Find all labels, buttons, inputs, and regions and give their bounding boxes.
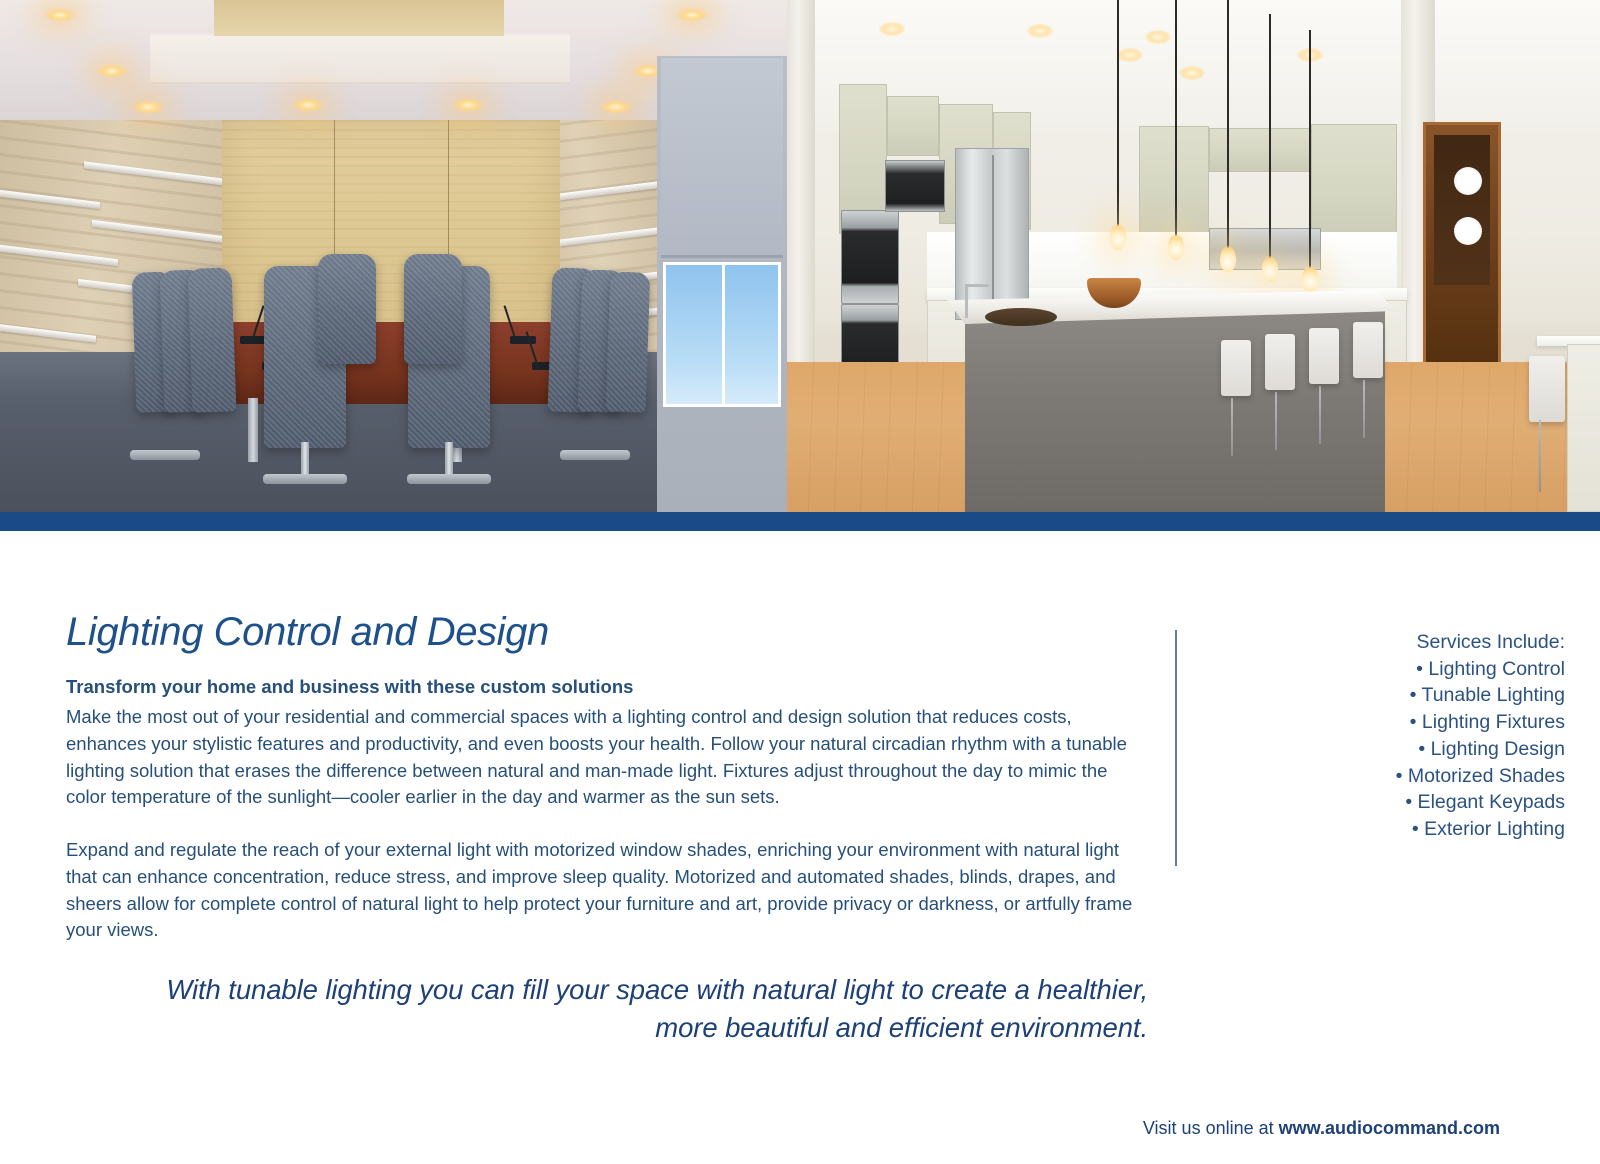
accent-band [0, 512, 1600, 531]
chair-base [130, 450, 200, 460]
hero-image-kitchen [787, 0, 1600, 512]
recessed-downlight [44, 8, 76, 22]
wall-oven [841, 210, 899, 304]
conference-chair [606, 271, 651, 412]
footer-prefix: Visit us online at [1143, 1118, 1279, 1138]
pendant-bulb [1110, 224, 1126, 250]
recessed-downlight [879, 22, 905, 36]
chair-base [407, 474, 491, 484]
kitchen-faucet [965, 284, 968, 318]
services-divider [1175, 630, 1177, 866]
pendant-bulb [1220, 246, 1236, 272]
pendant-cord [1175, 0, 1177, 236]
services-item-lighting-control: • Lighting Control [1190, 656, 1565, 683]
hero-image-strip [0, 0, 1600, 512]
page-title: Lighting Control and Design [66, 610, 549, 655]
services-item-lighting-design: • Lighting Design [1190, 736, 1565, 763]
conference-chair [318, 254, 376, 364]
kitchen-upper-cabinet [1139, 126, 1209, 238]
services-heading: Services Include: [1190, 629, 1565, 656]
pendant-bulb [1302, 266, 1318, 292]
chair-post [301, 442, 309, 478]
serving-tray [985, 308, 1057, 326]
services-item-elegant-keypads: • Elegant Keypads [1190, 789, 1565, 816]
recessed-downlight [1145, 30, 1171, 44]
office-ceiling-wood-inset [214, 0, 504, 36]
services-item-tunable-lighting: • Tunable Lighting [1190, 682, 1565, 709]
chair-post [445, 442, 453, 478]
brochure-page: Lighting Control and Design Transform yo… [0, 0, 1600, 1164]
conference-chair [404, 254, 462, 364]
pendant-cord [1117, 0, 1119, 226]
office-window-glass [663, 262, 781, 407]
services-item-exterior-lighting: • Exterior Lighting [1190, 816, 1565, 843]
conference-chair [188, 267, 237, 412]
hero-image-conference-room [0, 0, 787, 512]
bar-stool-leg [1319, 386, 1321, 444]
conference-table-leg [248, 398, 258, 462]
dining-chair [1529, 356, 1565, 422]
recessed-downlight [1027, 24, 1053, 38]
recessed-downlight [292, 98, 324, 112]
motorized-window-shade [661, 58, 783, 258]
services-item-motorized-shades: • Motorized Shades [1190, 763, 1565, 790]
display-plate [1454, 217, 1482, 245]
recessed-downlight [132, 100, 164, 114]
microwave [885, 160, 945, 212]
display-plate [1454, 167, 1482, 195]
dining-chair-leg [1539, 420, 1541, 492]
services-item-lighting-fixtures: • Lighting Fixtures [1190, 709, 1565, 736]
services-list: Services Include: • Lighting Control • T… [1190, 629, 1565, 843]
body-paragraph-2: Expand and regulate the reach of your ex… [66, 837, 1146, 944]
bar-stool-leg [1231, 398, 1233, 456]
pendant-bulb [1262, 256, 1278, 282]
door-glass-panel [1434, 135, 1490, 285]
pendant-cord [1269, 14, 1271, 258]
footer-visit-line: Visit us online at www.audiocommand.com [0, 1118, 1500, 1139]
recessed-downlight [676, 8, 708, 22]
chair-base [560, 450, 630, 460]
sliding-barn-door [1423, 122, 1501, 372]
website-link[interactable]: www.audiocommand.com [1279, 1118, 1500, 1138]
recessed-downlight [1117, 48, 1143, 62]
kitchen-upper-cabinet [1311, 124, 1397, 242]
kitchen-upper-cabinet [887, 96, 939, 156]
pull-quote-line-1: With tunable lighting you can fill your … [166, 974, 1148, 1005]
recessed-downlight [1179, 66, 1205, 80]
pull-quote-line-2: more beautiful and efficient environment… [655, 1012, 1148, 1043]
body-paragraph-1: Make the most out of your residential an… [66, 704, 1146, 811]
bar-stool [1221, 340, 1251, 396]
bar-stool-leg [1275, 392, 1277, 450]
pendant-cord [1309, 30, 1311, 268]
bar-stool [1309, 328, 1339, 384]
kitchen-column [787, 0, 815, 400]
pull-quote: With tunable lighting you can fill your … [140, 971, 1148, 1047]
content-area: Lighting Control and Design Transform yo… [0, 531, 1600, 1164]
chair-base [263, 474, 347, 484]
pendant-cord [1227, 0, 1229, 248]
dining-side-cabinet [1567, 344, 1600, 512]
bar-stool [1265, 334, 1295, 390]
bar-stool [1353, 322, 1383, 378]
recessed-downlight [96, 64, 128, 78]
recessed-downlight [452, 98, 484, 112]
recessed-downlight [600, 100, 632, 114]
pendant-bulb [1168, 234, 1184, 260]
bar-stool-leg [1363, 380, 1365, 438]
lead-subheading: Transform your home and business with th… [66, 678, 1146, 697]
